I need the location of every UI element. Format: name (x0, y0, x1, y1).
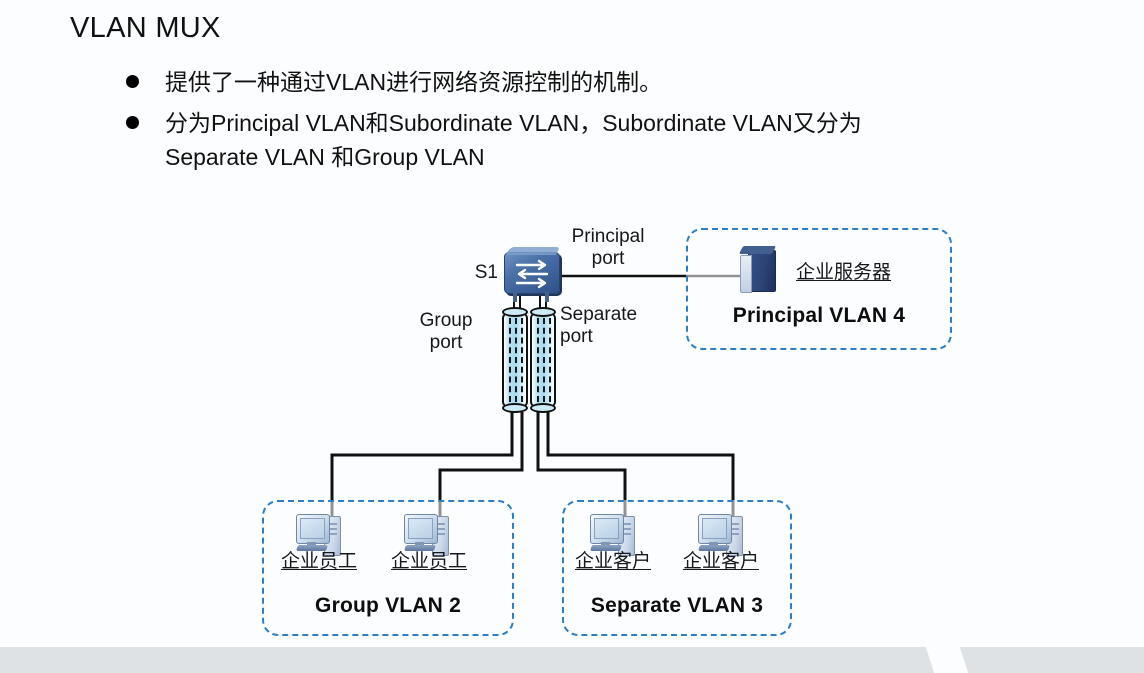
separate-port-label: Separate port (560, 304, 670, 347)
separate-trunk-pipe (530, 310, 556, 410)
group-trunk-pipe (502, 310, 528, 410)
pc-node-label: 企业员工 (382, 551, 476, 573)
zone-title-separate: Separate VLAN 3 (562, 594, 792, 618)
footer-band (0, 647, 1144, 673)
network-diagram: S1 Principal port Separate port Group po… (0, 0, 1144, 673)
zone-title-principal: Principal VLAN 4 (686, 304, 952, 328)
group-port-label: Group port (394, 310, 498, 353)
principal-port-label: Principal port (548, 226, 668, 269)
pc-node-label: 企业客户 (566, 551, 660, 573)
pc-node-label: 企业客户 (674, 551, 768, 573)
footer-notch-decoration (926, 647, 968, 673)
pc-node-label: 企业员工 (272, 551, 366, 573)
zone-principal-vlan-4[interactable] (686, 228, 952, 350)
switch-label: S1 (456, 262, 498, 284)
zone-title-group: Group VLAN 2 (262, 594, 514, 618)
server-node-label: 企业服务器 (796, 262, 926, 284)
slide-canvas: VLAN MUX 提供了一种通过VLAN进行网络资源控制的机制。 分为Princ… (0, 0, 1144, 673)
